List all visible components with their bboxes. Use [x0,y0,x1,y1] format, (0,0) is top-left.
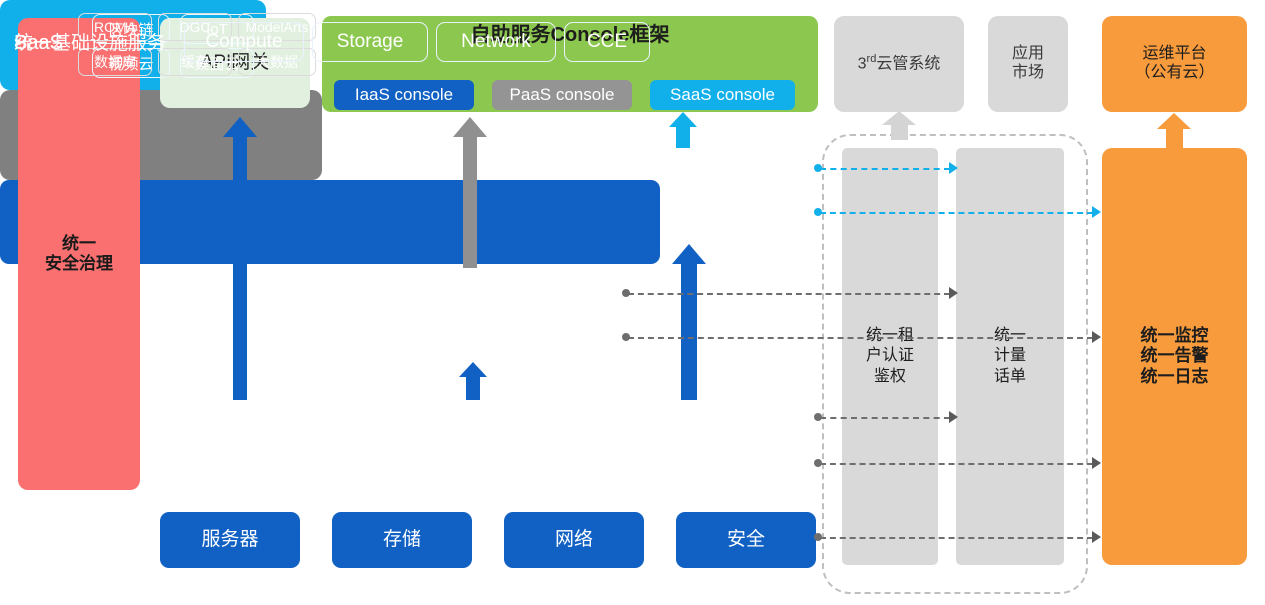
dash-iaas-to-ops-arrowhead [1092,457,1101,469]
iaas-chip-network: Network [436,22,556,62]
arrow-iaas-to-saas-head [672,244,706,264]
third-party-superscript: rd [867,53,877,65]
ops-platform-top-box: 运维平台 （公有云） [1102,16,1247,112]
dash-paas-to-auth-arrowhead [949,287,958,299]
dash-iaas-to-auth-line [820,417,950,419]
arrow-paas-to-console-head [453,117,487,137]
arrow-opscol-to-opstop-shaft [1166,128,1183,148]
security-governance-column: 统一 安全治理 [18,18,140,490]
security-governance-line2: 安全治理 [45,254,113,274]
dash-iaas-to-auth-arrowhead [949,411,958,423]
saas-console-chip: SaaS console [650,80,795,110]
dash-hardware-to-ops-arrowhead [1092,531,1101,543]
hardware-network-box: 网络 [504,512,644,568]
arrow-opscol-to-opstop-head [1157,113,1191,129]
ops-column-line2: 统一告警 [1141,346,1209,366]
auth-line3: 鉴权 [866,367,914,387]
dash-saas-to-ops-line [820,212,1093,214]
arrow-shared-to-thirdparty-shaft [891,124,908,140]
hardware-storage-box: 存储 [332,512,472,568]
iaas-chip-compute: Compute [184,22,304,62]
ops-column-line1: 统一监控 [1141,326,1209,346]
ops-platform-line1: 运维平台 [1134,45,1214,64]
iaas-console-chip: IaaS console [334,80,474,110]
arrow-iaas-to-saas-shaft [681,262,697,400]
hardware-server-box: 服务器 [160,512,300,568]
app-market-line2: 市场 [1012,64,1044,83]
dash-saas-to-ops-arrowhead [1092,206,1101,218]
dash-paas-to-auth-line [628,293,950,295]
arrow-saas-to-console-shaft [676,126,690,148]
metering-line2: 计量 [994,346,1026,366]
dash-paas-to-ops-line [628,337,1093,339]
auth-line2: 户认证 [866,346,914,366]
arrow-shared-to-thirdparty-head [882,111,916,125]
paas-console-chip: PaaS console [492,80,632,110]
unified-infrastructure-label: 统一基础设施服务 [14,28,166,55]
third-party-prefix: 3 [858,56,867,73]
arrow-iaas-to-paas-head [459,362,487,377]
iaas-chip-cce: CCE [564,22,650,62]
security-governance-line1: 统一 [45,234,113,254]
dash-hardware-to-ops-line [820,537,1093,539]
dash-saas-to-auth-arrowhead [949,162,958,174]
ops-column-line3: 统一日志 [1141,367,1209,387]
dash-saas-to-auth-line [820,168,950,170]
arrow-saas-to-console-head [669,112,697,127]
iaas-chip-storage: Storage [312,22,428,62]
app-market-box: 应用 市场 [988,16,1068,112]
arrow-paas-to-console-shaft [463,135,477,268]
third-party-rest: 云管系统 [876,56,940,73]
dash-iaas-to-ops-line [820,463,1093,465]
ops-monitoring-column: 统一监控 统一告警 统一日志 [1102,148,1247,565]
arrow-iaas-to-paas-shaft [466,376,480,400]
hardware-security-box: 安全 [676,512,816,568]
arrow-iaas-to-apigw-shaft [233,135,247,400]
unified-tenant-auth-column: 统一租 户认证 鉴权 [842,148,938,565]
third-party-cloud-mgmt-box: 3rd云管系统 [834,16,964,112]
dash-paas-to-ops-arrowhead [1092,331,1101,343]
arrow-iaas-to-apigw-head [223,117,257,137]
architecture-diagram: 统一 安全治理 API网关 自助服务Console框架 IaaS console… [0,0,1265,605]
app-market-line1: 应用 [1012,45,1044,64]
ops-platform-line2: （公有云） [1134,64,1214,83]
metering-line3: 话单 [994,367,1026,387]
unified-metering-billing-column: 统一 计量 话单 [956,148,1064,565]
